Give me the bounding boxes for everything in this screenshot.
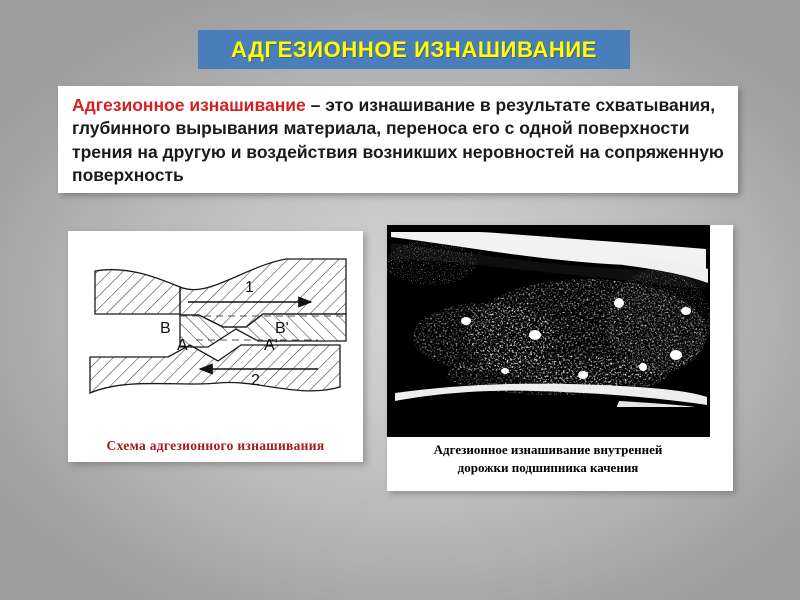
label-junction-left-inner: A — [177, 337, 188, 354]
slide-canvas: АДГЕЗИОННОЕ ИЗНАШИВАНИЕ Адгезионное изна… — [0, 0, 800, 600]
page-title: АДГЕЗИОННОЕ ИЗНАШИВАНИЕ — [231, 37, 597, 63]
definition-paragraph: Адгезионное изнашивание – это изнашивани… — [72, 94, 726, 187]
scheme-caption: Схема адгезионного изнашивания — [68, 438, 363, 454]
label-lower-body: 2 — [251, 372, 260, 389]
micrograph-image — [387, 225, 710, 437]
debris-speckle-upper-left — [387, 241, 477, 285]
label-junction-right-outer: B' — [275, 320, 289, 337]
label-upper-body: 1 — [245, 279, 254, 296]
definition-term: Адгезионное изнашивание — [72, 95, 306, 115]
photo-caption-line-1: Адгезионное изнашивание внутренней — [393, 441, 703, 459]
debris-speckle-lower — [447, 355, 667, 395]
label-junction-right-inner: A' — [264, 337, 278, 354]
label-junction-left-outer: B — [160, 320, 171, 337]
scheme-panel: 1 2 B A A' B' Схема адгезионного изнашив… — [68, 231, 363, 462]
micrograph-content — [387, 225, 710, 437]
junction-wedge-region — [180, 314, 346, 347]
upper-body-left-region — [95, 270, 180, 314]
adhesive-wear-schematic: 1 2 B A A' B' — [68, 237, 363, 427]
definition-textbox: Адгезионное изнашивание – это изнашивани… — [58, 86, 738, 193]
debris-speckle-right — [607, 269, 710, 373]
photo-caption-line-2: дорожки подшипника качения — [393, 459, 703, 477]
title-banner: АДГЕЗИОННОЕ ИЗНАШИВАНИЕ — [198, 30, 630, 69]
photo-caption: Адгезионное изнашивание внутренней дорож… — [393, 441, 703, 476]
photo-panel: Адгезионное изнашивание внутренней дорож… — [387, 225, 733, 491]
